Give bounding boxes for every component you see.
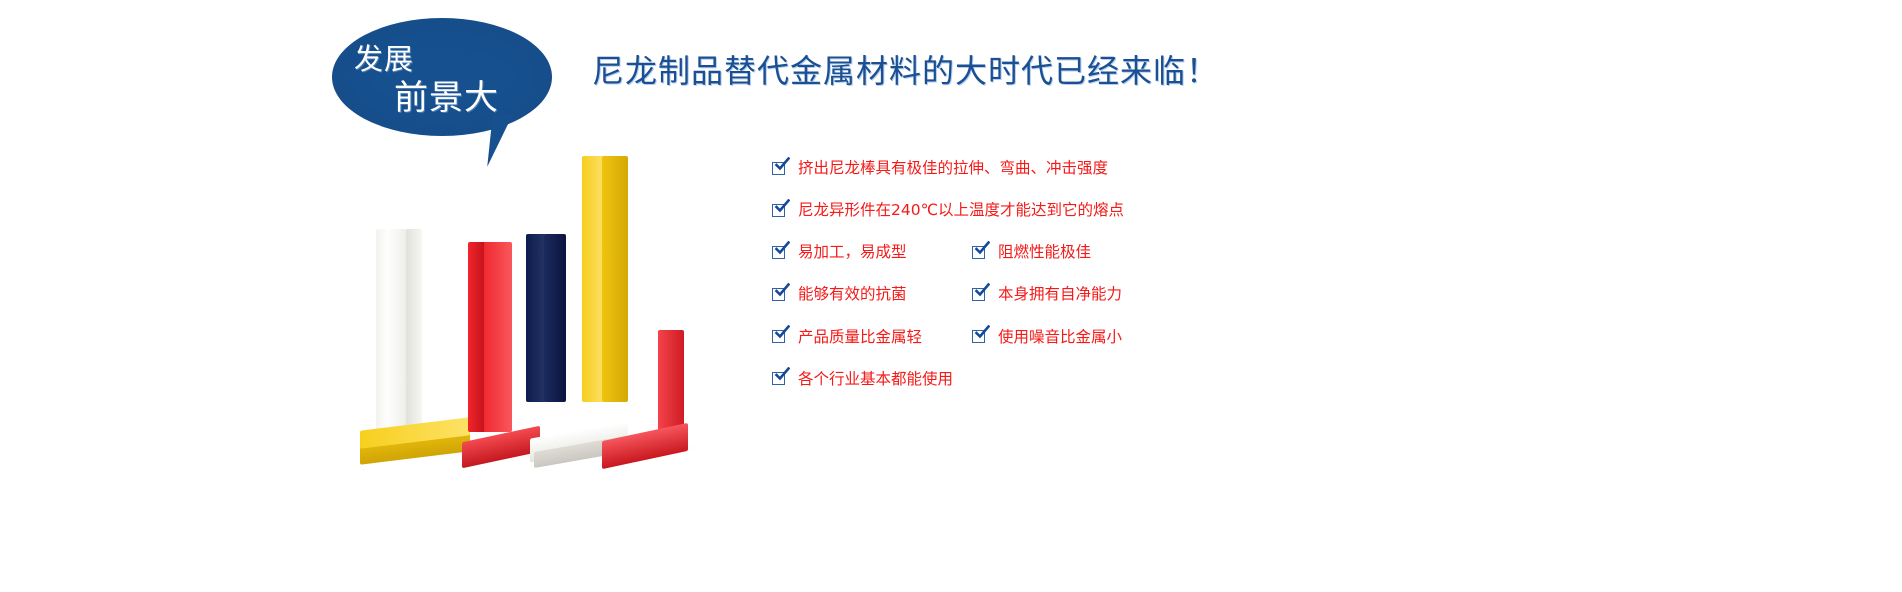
feature-text: 能够有效的抗菌 — [798, 284, 907, 304]
product-navy-bar-profile — [526, 234, 566, 402]
feature-text: 产品质量比金属轻 — [798, 327, 922, 347]
checkbox-check-icon — [972, 245, 987, 260]
feature-row: 能够有效的抗菌 本身拥有自净能力 — [772, 284, 1412, 304]
feature-item: 挤出尼龙棒具有极佳的拉伸、弯曲、冲击强度 — [772, 158, 1108, 178]
headline: 尼龙制品替代金属材料的大时代已经来临！ — [592, 52, 1219, 90]
feature-item: 阻燃性能极佳 — [972, 242, 1091, 262]
feature-item: 各个行业基本都能使用 — [772, 369, 953, 389]
feature-item: 尼龙异形件在240℃以上温度才能达到它的熔点 — [772, 200, 1124, 220]
feature-text: 本身拥有自净能力 — [998, 284, 1122, 304]
product-photo — [350, 190, 710, 460]
product-red-angle-profile — [602, 330, 692, 460]
bubble-line-1: 发展 — [354, 45, 414, 74]
bubble-line-2: 前景大 — [394, 81, 499, 115]
feature-row: 挤出尼龙棒具有极佳的拉伸、弯曲、冲击强度 — [772, 158, 1412, 178]
feature-row: 各个行业基本都能使用 — [772, 369, 1412, 389]
feature-text: 各个行业基本都能使用 — [798, 369, 953, 389]
feature-list: 挤出尼龙棒具有极佳的拉伸、弯曲、冲击强度 尼龙异形件在240℃以上温度才能达到它… — [772, 158, 1412, 411]
feature-item: 易加工，易成型 — [772, 242, 972, 262]
checkbox-check-icon — [772, 287, 787, 302]
feature-text: 挤出尼龙棒具有极佳的拉伸、弯曲、冲击强度 — [798, 158, 1108, 178]
checkbox-check-icon — [772, 245, 787, 260]
feature-item: 产品质量比金属轻 — [772, 327, 972, 347]
checkbox-check-icon — [772, 371, 787, 386]
feature-item: 使用噪音比金属小 — [972, 327, 1122, 347]
checkbox-check-icon — [772, 203, 787, 218]
checkbox-check-icon — [972, 329, 987, 344]
product-yellow-base-profile — [360, 408, 470, 460]
feature-row: 易加工，易成型 阻燃性能极佳 — [772, 242, 1412, 262]
promo-banner: 发展 前景大 尼龙制品替代金属材料的大时代已经来临！ — [0, 0, 1902, 592]
checkbox-check-icon — [972, 287, 987, 302]
feature-row: 尼龙异形件在240℃以上温度才能达到它的熔点 — [772, 200, 1412, 220]
speech-bubble: 发展 前景大 — [332, 18, 552, 158]
feature-text: 易加工，易成型 — [798, 242, 907, 262]
speech-bubble-text: 发展 前景大 — [332, 18, 552, 136]
feature-item: 能够有效的抗菌 — [772, 284, 972, 304]
checkbox-check-icon — [772, 161, 787, 176]
checkbox-check-icon — [772, 329, 787, 344]
feature-text: 使用噪音比金属小 — [998, 327, 1122, 347]
feature-text: 尼龙异形件在240℃以上温度才能达到它的熔点 — [798, 200, 1124, 220]
product-red-l-profile — [468, 242, 512, 432]
feature-row: 产品质量比金属轻 使用噪音比金属小 — [772, 327, 1412, 347]
feature-text: 阻燃性能极佳 — [998, 242, 1091, 262]
feature-item: 本身拥有自净能力 — [972, 284, 1122, 304]
